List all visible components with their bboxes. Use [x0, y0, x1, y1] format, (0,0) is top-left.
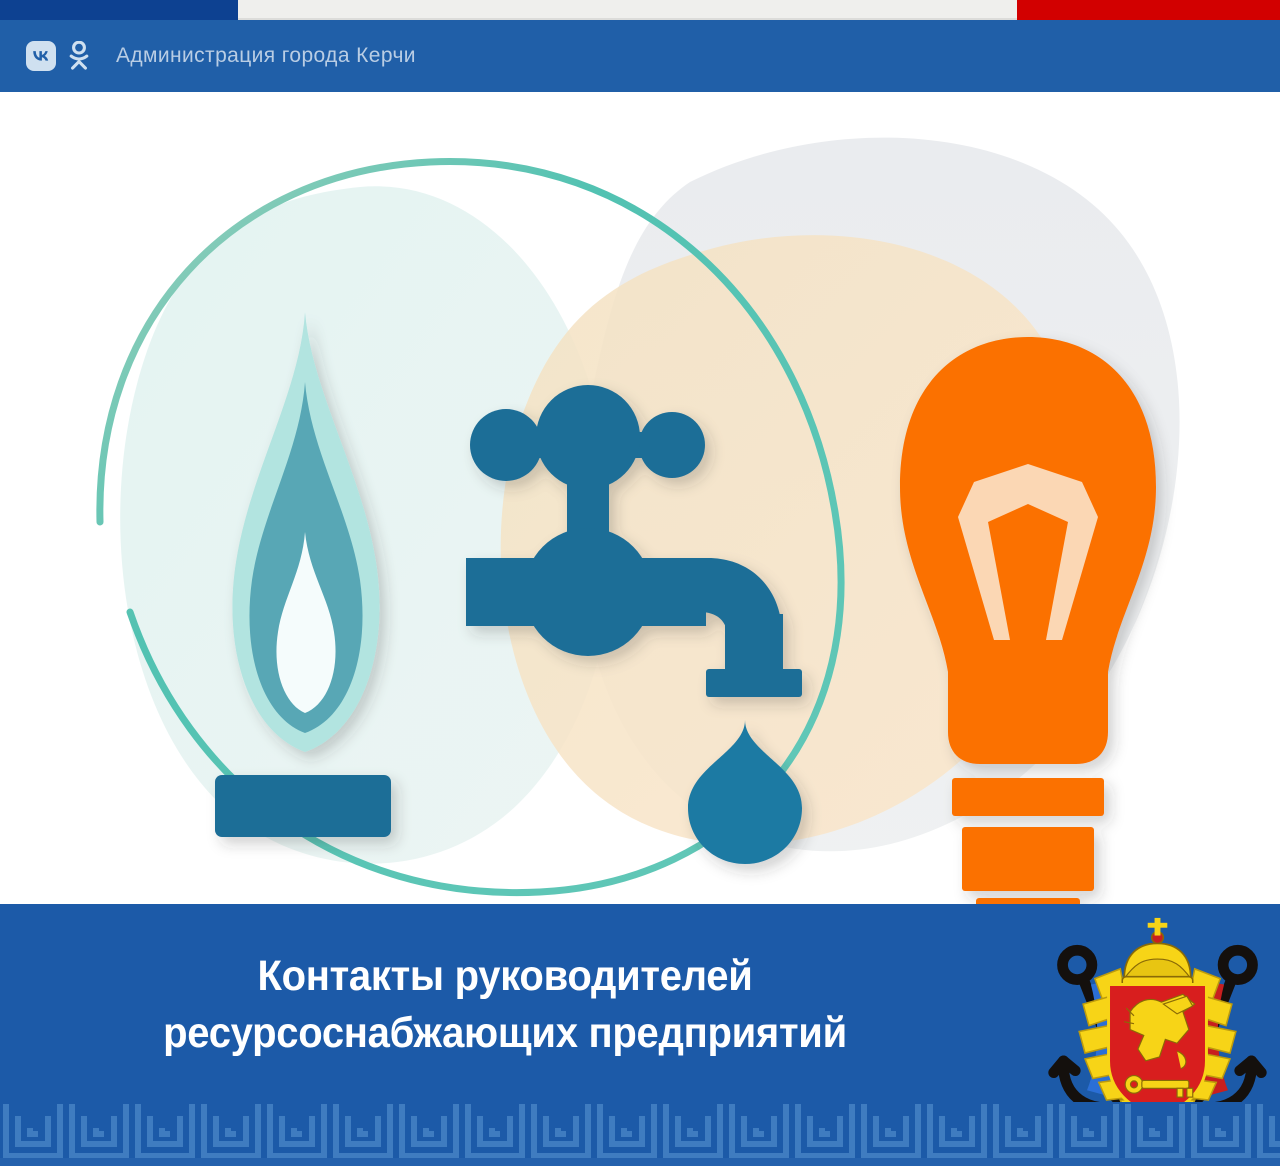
poster-root: Администрация города Керчи: [0, 0, 1280, 1166]
faucet-outlet: [706, 669, 802, 697]
kerch-coat-of-arms: [1040, 914, 1275, 1102]
greek-key-meander-border: [0, 1102, 1280, 1166]
page-title: Администрация города Керчи: [116, 44, 416, 68]
vk-icon[interactable]: [26, 41, 56, 71]
burner-base: [215, 775, 391, 837]
title-banner: Контакты руководителей ресурсоснабжающих…: [0, 904, 1280, 1102]
banner-title-line-1: Контакты руководителей: [257, 952, 752, 1000]
odnoklassniki-icon[interactable]: [66, 40, 92, 72]
banner-title: Контакты руководителей ресурсоснабжающих…: [35, 948, 974, 1062]
bulb-base-ring-1: [952, 778, 1104, 816]
flag-white-segment: [238, 0, 1017, 20]
russian-flag-strip: [0, 0, 1280, 20]
faucet-knob-left: [470, 409, 542, 481]
banner-title-line-2: ресурсоснабжающих предприятий: [35, 1005, 974, 1062]
faucet-knob-right: [639, 412, 705, 478]
flag-blue-segment: [0, 0, 238, 20]
utilities-illustration: [0, 92, 1280, 904]
imperial-crown: [1122, 918, 1193, 988]
flag-red-segment: [1017, 0, 1280, 20]
bulb-base-ring-2: [962, 827, 1094, 891]
social-header-bar: Администрация города Керчи: [0, 20, 1280, 92]
